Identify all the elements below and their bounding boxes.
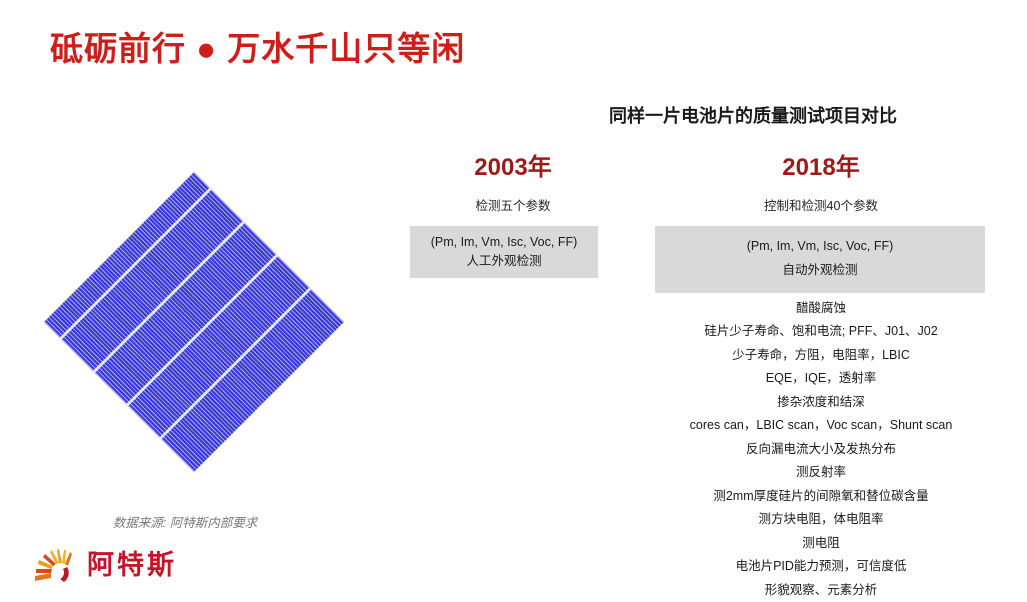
comparison-subtitle: 同样一片电池片的质量测试项目对比 [513, 102, 993, 128]
highlight-box-2018: (Pm, Im, Vm, Isc, Voc, FF) 自动外观检测 [655, 226, 985, 292]
brand-logo: 阿特斯 [33, 546, 177, 584]
highlight-line: (Pm, Im, Vm, Isc, Voc, FF) [414, 233, 594, 251]
column-2003: 2003年 检测五个参数 (Pm, Im, Vm, Isc, Voc, FF) … [398, 155, 628, 278]
year-heading-2003: 2003年 [398, 155, 628, 181]
highlight-line: (Pm, Im, Vm, Isc, Voc, FF) [659, 235, 981, 258]
list-item: cores can，LBIC scan，Voc scan，Shunt scan [630, 414, 1012, 438]
list-item: 测反射率 [630, 461, 1012, 485]
test-item-list: 醋酸腐蚀硅片少子寿命、饱和电流; PFF、J01、J02少子寿命，方阻，电阻率，… [630, 297, 1012, 602]
list-item: 电池片PID能力预测，可信度低 [630, 555, 1012, 579]
list-item: 测方块电阻，体电阻率 [630, 508, 1012, 532]
solar-cell-image [44, 172, 344, 472]
source-note: 数据来源: 阿特斯内部要求 [60, 512, 310, 531]
year-heading-2018: 2018年 [630, 155, 1012, 181]
sunburst-icon [33, 546, 79, 584]
list-item: 测电阻 [630, 532, 1012, 556]
list-item: 硅片少子寿命、饱和电流; PFF、J01、J02 [630, 320, 1012, 344]
list-item: 少子寿命，方阻，电阻率，LBIC [630, 344, 1012, 368]
highlight-line: 自动外观检测 [659, 259, 981, 282]
page-title: 砥砺前行 ● 万水千山只等闲 [50, 22, 465, 70]
highlight-box-2003: (Pm, Im, Vm, Isc, Voc, FF) 人工外观检测 [410, 226, 598, 277]
year-summary-2003: 检测五个参数 [398, 195, 628, 214]
list-item: 醋酸腐蚀 [630, 297, 1012, 321]
solar-cell-graphic [44, 172, 344, 472]
highlight-line: 人工外观检测 [414, 252, 594, 270]
list-item: EQE，IQE，透射率 [630, 367, 1012, 391]
list-item: 测2mm厚度硅片的间隙氧和替位碳含量 [630, 485, 1012, 509]
list-item: 反向漏电流大小及发热分布 [630, 438, 1012, 462]
column-2018: 2018年 控制和检测40个参数 (Pm, Im, Vm, Isc, Voc, … [630, 155, 1012, 602]
year-summary-2018: 控制和检测40个参数 [630, 195, 1012, 214]
logo-text: 阿特斯 [87, 552, 177, 579]
list-item: 掺杂浓度和结深 [630, 391, 1012, 415]
list-item: 形貌观察、元素分析 [630, 579, 1012, 602]
